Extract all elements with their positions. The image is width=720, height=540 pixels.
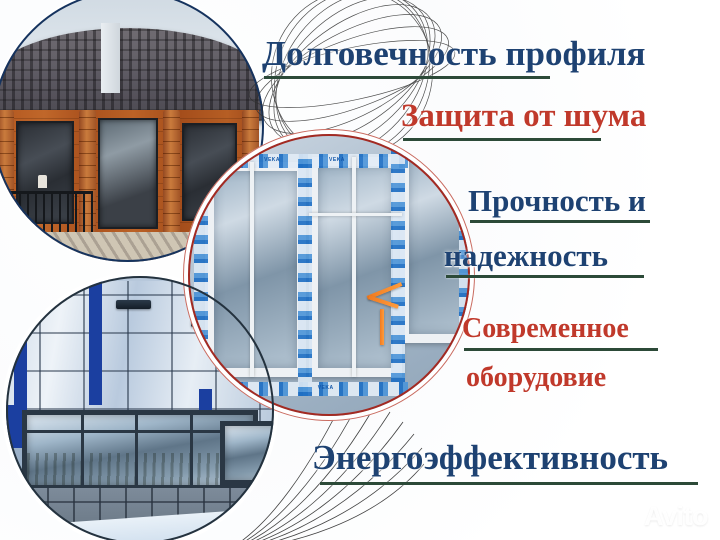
orange-strap <box>380 309 384 346</box>
veka-brand-label: VEKA <box>216 157 232 163</box>
tiled-roof <box>0 28 264 120</box>
facade-vent <box>116 300 151 309</box>
veka-protective-film <box>391 145 405 382</box>
facade-blue-stripe <box>89 281 102 404</box>
veka-brand-label: VEKA <box>264 157 280 163</box>
glazing-mullion <box>190 415 193 485</box>
glazing-transom <box>27 430 253 433</box>
house-window <box>98 118 158 230</box>
avito-watermark: Avito <box>614 503 708 530</box>
veka-protective-film <box>298 154 312 397</box>
glazing-mullion <box>135 415 138 485</box>
roof-ridge <box>101 23 120 94</box>
veka-scene: VEKA VEKA VEKA VEKA VEKA <box>188 134 470 416</box>
facade-glazing-secondary <box>220 421 274 485</box>
headline-line-1[interactable]: Долговечность профиля <box>262 34 645 74</box>
avito-dots-icon <box>614 504 640 530</box>
headline-line-2[interactable]: Защита от шума <box>401 98 646 135</box>
pvc-window-frame <box>205 162 307 376</box>
tree-reflection <box>27 453 253 485</box>
window-mullion <box>250 162 254 376</box>
veka-brand-label: VEKA <box>216 385 232 391</box>
veka-protective-film <box>194 154 208 397</box>
advertisement-canvas: VEKA VEKA VEKA VEKA VEKA <box>0 0 720 540</box>
headline-line-7[interactable]: Энергоэффективность <box>312 438 668 478</box>
wall-lamp <box>38 175 47 188</box>
headline-line-6[interactable]: оборудовие <box>466 362 606 394</box>
pvc-window-frame <box>309 157 402 377</box>
veka-brand-label: VEKA <box>318 385 334 391</box>
headline-line-3[interactable]: Прочность и <box>468 183 646 219</box>
veka-brand-label: VEKA <box>329 157 345 163</box>
headline-line-5[interactable]: Современное <box>462 313 629 345</box>
headline-line-4[interactable]: надежность <box>444 238 608 274</box>
avito-brand-text: Avito <box>644 503 708 530</box>
photo-veka-windows: VEKA VEKA VEKA VEKA VEKA <box>188 134 470 416</box>
window-mullion <box>352 157 356 377</box>
glazing-mullion <box>81 415 84 485</box>
window-transom <box>309 213 402 216</box>
